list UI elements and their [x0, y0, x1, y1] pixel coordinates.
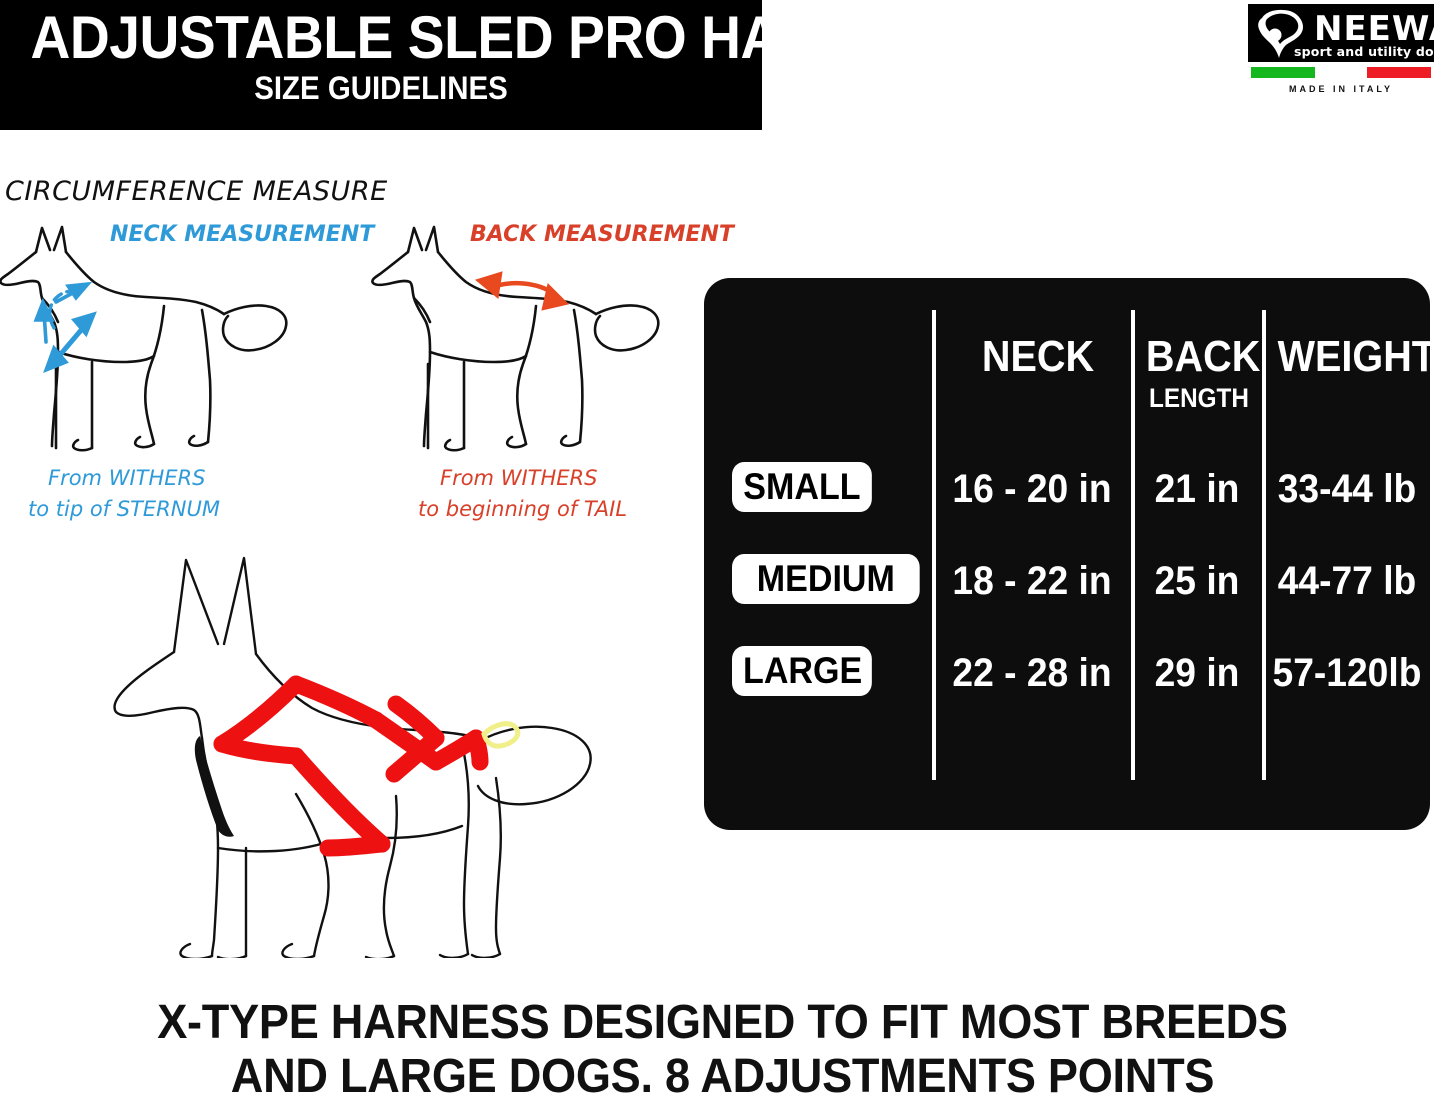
column-header-weight: WEIGHT: [1278, 332, 1415, 382]
neewa-logo-icon: NEEWA sport and utility dog gear: [1248, 4, 1434, 62]
neck-caption-line2: to tip of STERNUM: [28, 494, 220, 525]
flag-bar-red: [1367, 67, 1431, 78]
svg-text:sport and utility dog gear: sport and utility dog gear: [1294, 44, 1434, 59]
circumference-measure-label: CIRCUMFERENCE MEASURE: [5, 176, 388, 207]
page-title: ADJUSTABLE SLED PRO HARNESS: [30, 6, 731, 70]
cell-medium-weight: 44-77 lb: [1272, 556, 1423, 606]
cell-small-back: 21 in: [1140, 464, 1253, 514]
cell-small-neck: 16 - 20 in: [945, 464, 1120, 514]
size-badge-medium: MEDIUM: [732, 554, 920, 604]
size-badge-small: SMALL: [732, 462, 872, 512]
title-bar: ADJUSTABLE SLED PRO HARNESS SIZE GUIDELI…: [0, 0, 762, 130]
footer-line-1: X-TYPE HARNESS DESIGNED TO FIT MOST BREE…: [43, 996, 1401, 1050]
column-header-neck: NECK: [959, 332, 1117, 382]
italian-flag: [1248, 67, 1434, 78]
page-subtitle: SIZE GUIDELINES: [30, 70, 731, 106]
cell-large-back: 29 in: [1140, 648, 1253, 698]
cell-small-weight: 33-44 lb: [1272, 464, 1423, 514]
neck-caption-line1: From WITHERS: [48, 466, 205, 490]
back-caption-line2: to beginning of TAIL: [418, 494, 627, 525]
column-divider-2: [1131, 310, 1135, 780]
cell-medium-back: 25 in: [1140, 556, 1253, 606]
column-header-back-sublabel: LENGTH: [1146, 383, 1252, 414]
logo-badge: NEEWA sport and utility dog gear: [1248, 4, 1434, 62]
footer-tagline: X-TYPE HARNESS DESIGNED TO FIT MOST BREE…: [0, 996, 1445, 1104]
flag-bar-green: [1251, 67, 1315, 78]
dog-harness-illustration: [96, 548, 676, 958]
cell-large-neck: 22 - 28 in: [945, 648, 1120, 698]
svg-text:NEEWA: NEEWA: [1314, 9, 1434, 49]
dog-diagram-neck: [0, 222, 306, 452]
harness-loop-icon: [484, 724, 518, 746]
column-divider-3: [1262, 310, 1266, 780]
back-caption-line1: From WITHERS: [440, 466, 597, 490]
size-guidelines-table: NECK BACK LENGTH WEIGHT SMALL 16 - 20 in…: [704, 278, 1430, 830]
neck-measurement-caption: From WITHERS to tip of STERNUM: [48, 463, 220, 525]
cell-large-weight: 57-120lb: [1272, 648, 1423, 698]
footer-line-2: AND LARGE DOGS. 8 ADJUSTMENTS POINTS: [43, 1050, 1401, 1104]
column-header-back: BACK: [1146, 332, 1252, 382]
dog-diagram-back: [368, 222, 678, 452]
made-in-italy-label: MADE IN ITALY: [1248, 84, 1434, 94]
size-badge-large: LARGE: [732, 646, 872, 696]
brand-logo: NEEWA sport and utility dog gear MADE IN…: [1248, 4, 1434, 94]
back-measurement-caption: From WITHERS to beginning of TAIL: [440, 463, 627, 525]
column-divider-1: [932, 310, 936, 780]
cell-medium-neck: 18 - 22 in: [945, 556, 1120, 606]
